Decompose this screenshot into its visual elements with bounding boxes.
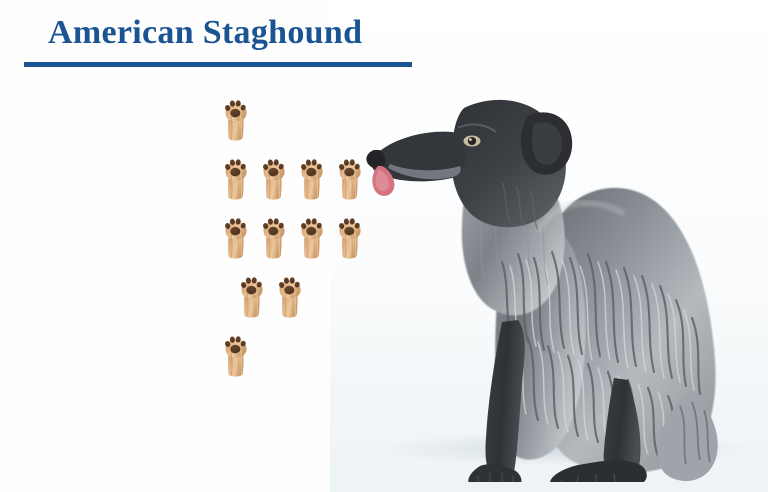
paw-icon	[222, 96, 250, 141]
paw-icon	[222, 332, 250, 377]
rating-paws-health-risks	[222, 332, 250, 377]
paw-icon	[222, 155, 250, 200]
slide-canvas: American Staghound Maintenance: Activity…	[0, 0, 768, 492]
paw-icon	[298, 214, 326, 259]
page-title: American Staghound	[48, 14, 362, 52]
rating-paws-kid-friendly	[222, 214, 364, 259]
paw-icon	[276, 273, 304, 318]
rating-row: Ease of Training:	[0, 273, 400, 332]
rating-row: Activity Level:	[0, 155, 400, 214]
paw-icon	[260, 155, 288, 200]
rating-row: Health Risks:	[0, 332, 400, 391]
rating-paws-activity-level	[222, 155, 364, 200]
rating-row: Maintenance:	[0, 96, 400, 155]
paw-icon	[238, 273, 266, 318]
ratings-list: Maintenance: Activity Level:	[0, 96, 400, 391]
rating-paws-ease-of-training	[238, 273, 304, 318]
dog-photo	[352, 62, 768, 482]
rating-row: Kid Friendly:	[0, 214, 400, 273]
paw-icon	[298, 155, 326, 200]
paw-icon	[222, 214, 250, 259]
rating-paws-maintenance	[222, 96, 250, 141]
paw-icon	[260, 214, 288, 259]
